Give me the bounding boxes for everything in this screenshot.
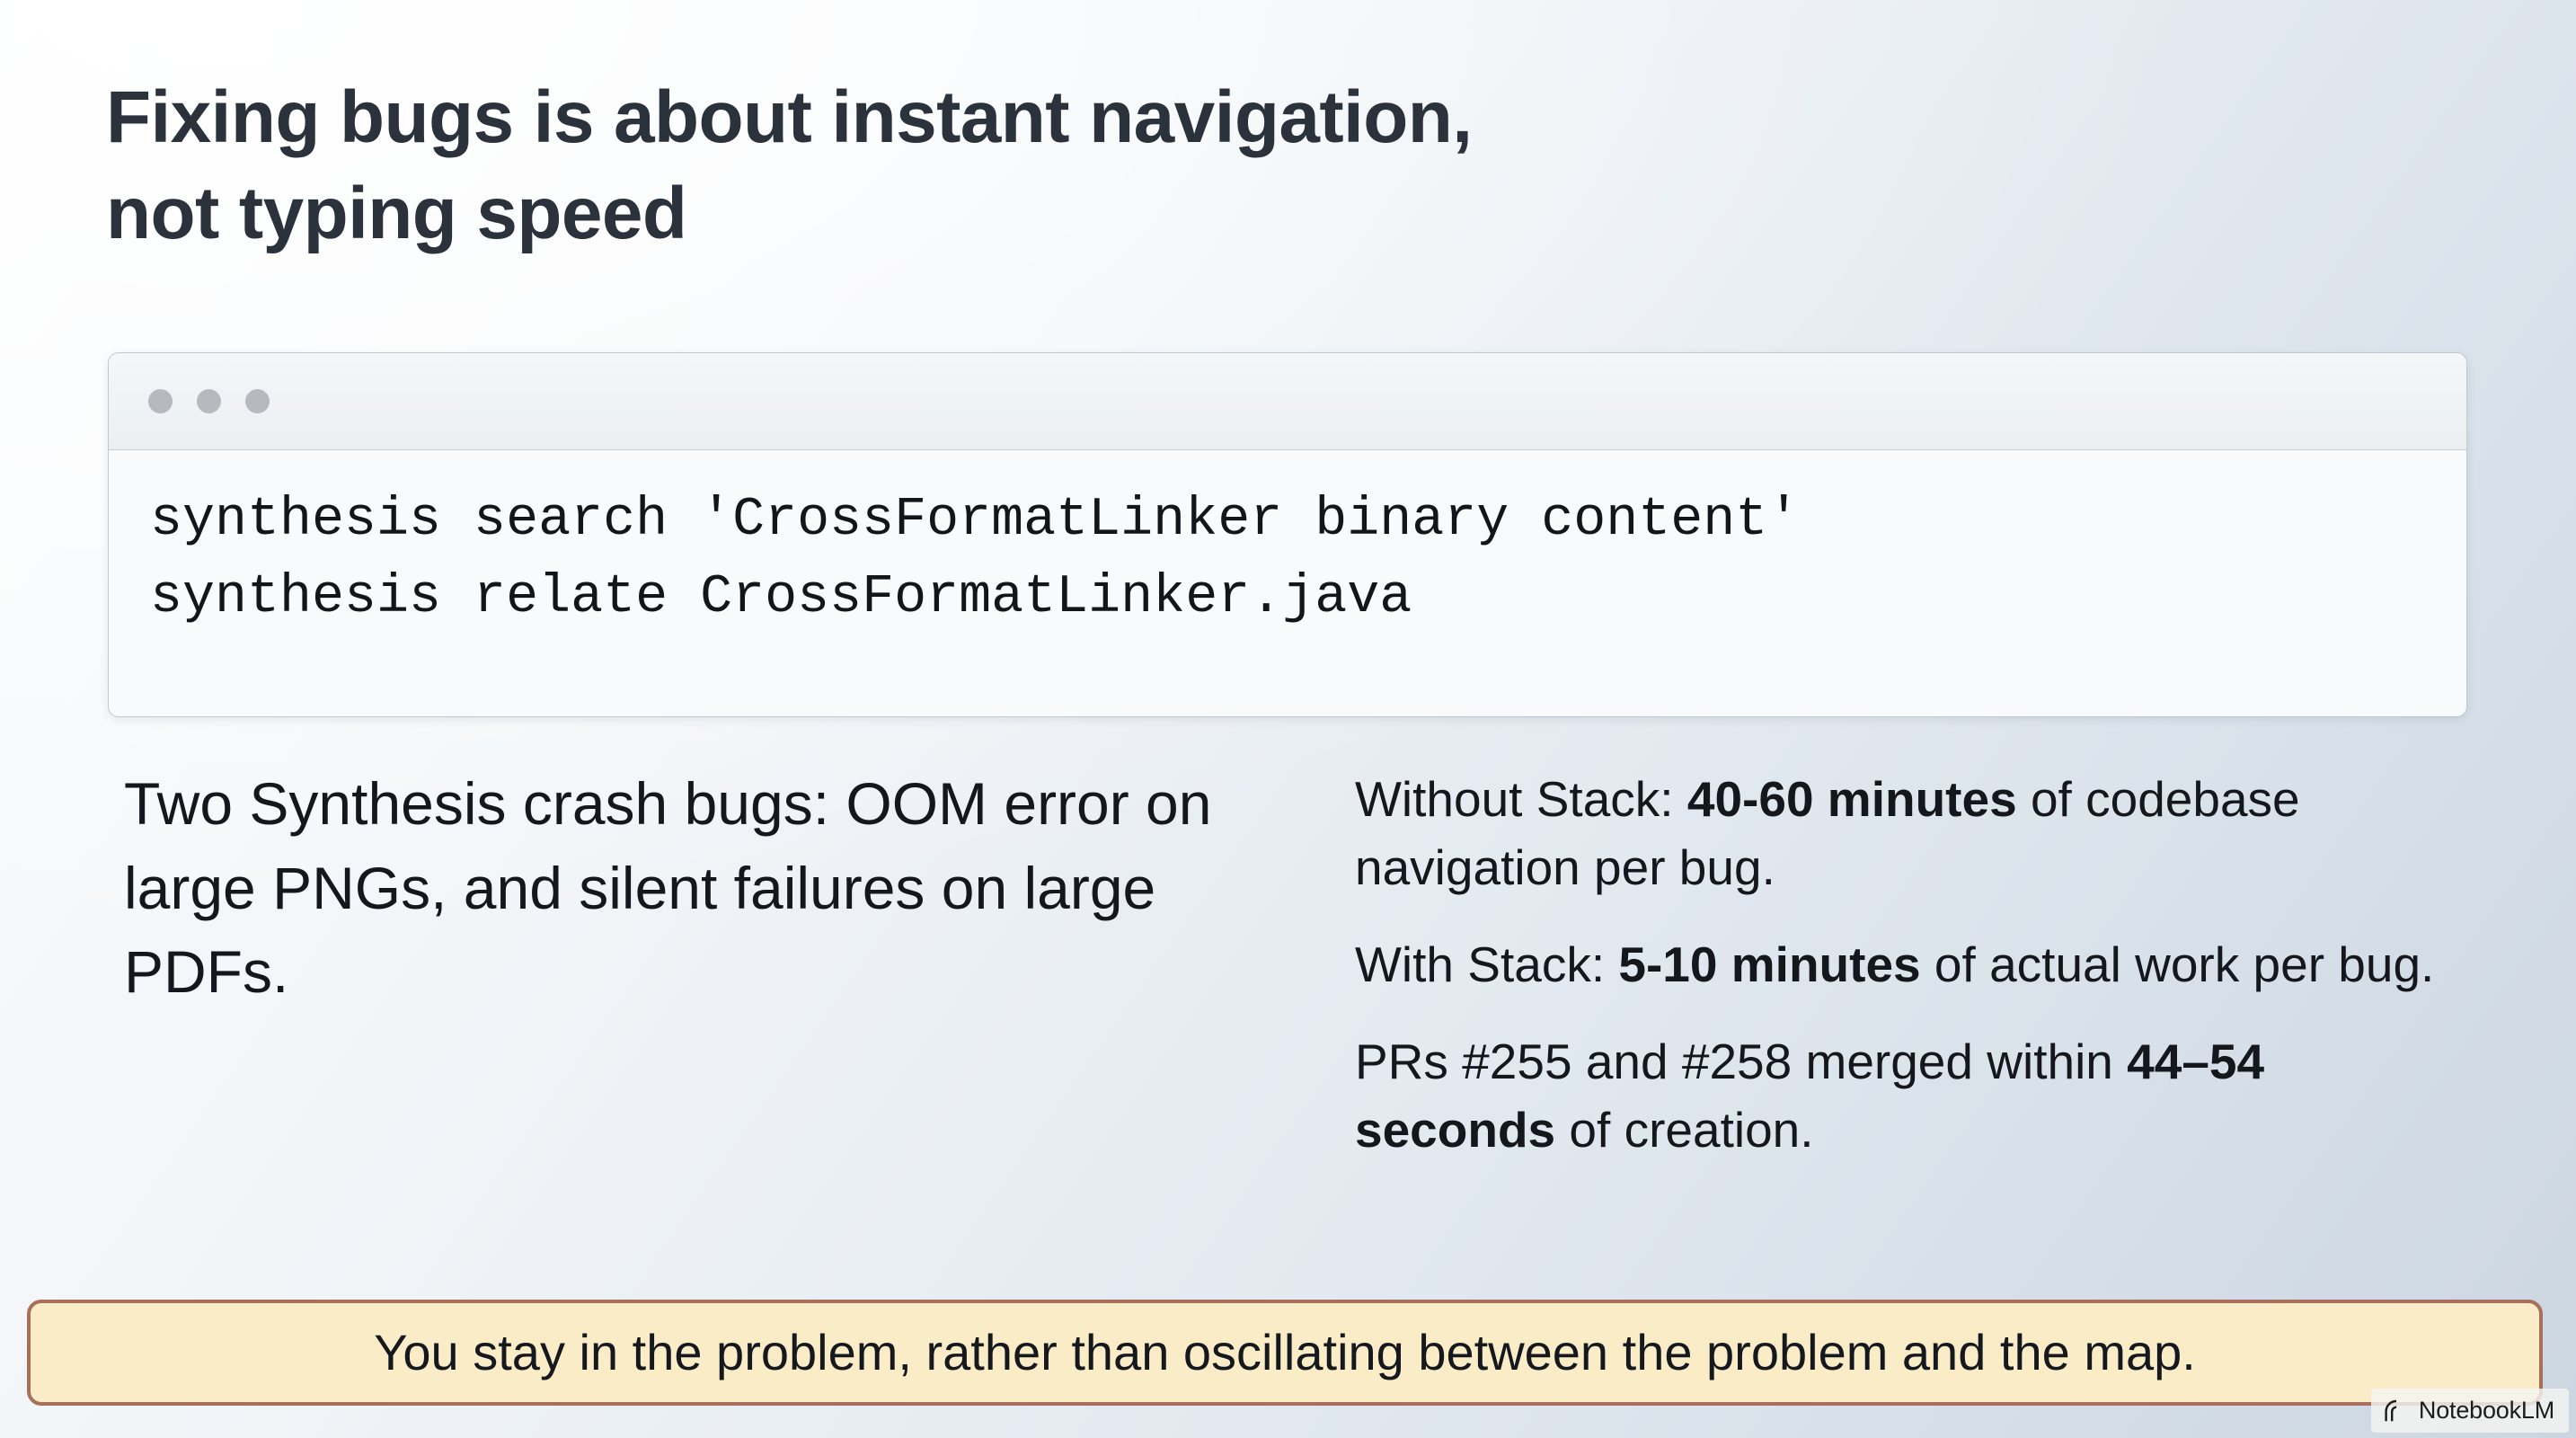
notebooklm-label: NotebookLM: [2419, 1397, 2554, 1425]
stat-suffix: of actual work per bug.: [1921, 936, 2435, 992]
left-column-text: Two Synthesis crash bugs: OOM error on l…: [124, 762, 1265, 1015]
terminal-titlebar: [109, 353, 2466, 450]
stat-prefix: Without Stack:: [1355, 771, 1687, 827]
stat-prefix: With Stack:: [1355, 936, 1618, 992]
notebooklm-arc-icon: [2384, 1398, 2411, 1424]
window-dot-icon[interactable]: [197, 389, 221, 413]
stat-paragraph: With Stack: 5-10 minutes of actual work …: [1355, 931, 2469, 999]
stat-prefix: PRs #255 and #258 merged within: [1355, 1034, 2127, 1089]
slide-root: Fixing bugs is about instant navigation,…: [0, 0, 2576, 1438]
terminal-window: synthesis search 'CrossFormatLinker bina…: [108, 352, 2467, 717]
callout-banner: You stay in the problem, rather than osc…: [27, 1300, 2543, 1406]
notebooklm-watermark: NotebookLM: [2371, 1389, 2569, 1433]
stat-value: 5-10 minutes: [1618, 936, 1920, 992]
window-dot-icon[interactable]: [148, 389, 173, 413]
stat-suffix: of creation.: [1555, 1102, 1813, 1158]
window-dot-icon[interactable]: [245, 389, 270, 413]
code-line: synthesis relate CrossFormatLinker.java: [150, 560, 2425, 637]
callout-text: You stay in the problem, rather than osc…: [374, 1322, 2196, 1382]
code-line: synthesis search 'CrossFormatLinker bina…: [150, 483, 2425, 560]
page-title: Fixing bugs is about instant navigation,…: [106, 70, 2262, 262]
terminal-body: synthesis search 'CrossFormatLinker bina…: [109, 450, 2466, 716]
stat-paragraph: PRs #255 and #258 merged within 44–54 se…: [1355, 1028, 2469, 1165]
stat-value: 40-60 minutes: [1687, 771, 2017, 827]
stat-paragraph: Without Stack: 40-60 minutes of codebase…: [1355, 766, 2469, 902]
right-column: Without Stack: 40-60 minutes of codebase…: [1355, 766, 2469, 1164]
